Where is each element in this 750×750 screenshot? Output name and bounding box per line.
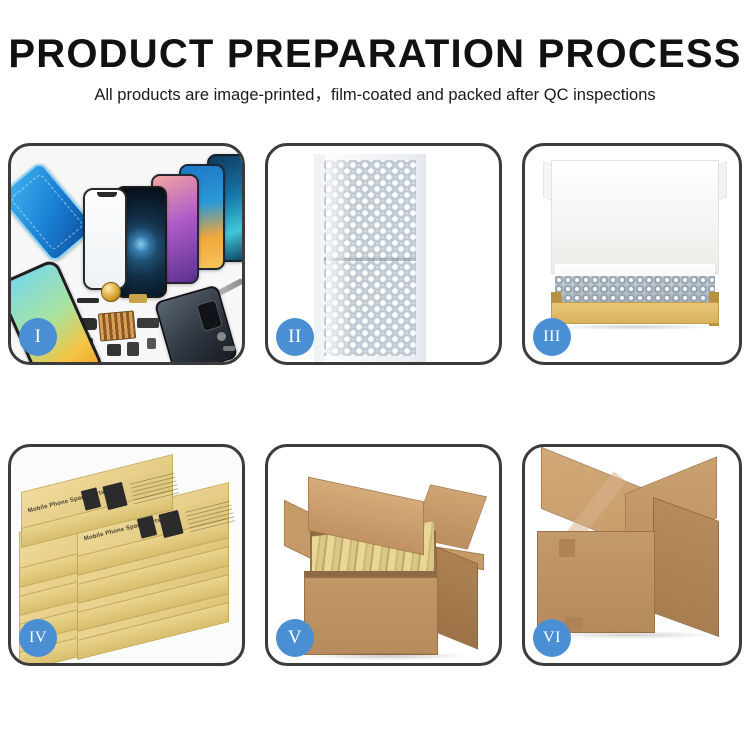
carton-tab-upper-icon — [559, 539, 575, 557]
yellow-box-front-icon — [551, 302, 719, 324]
box-shadow — [555, 324, 715, 330]
step-badge-6: VI — [533, 619, 571, 657]
page-subtitle: All products are image-printed，film-coat… — [0, 82, 750, 108]
charging-port-icon — [127, 342, 139, 356]
connector-gold-icon — [129, 294, 147, 303]
step-badge-2: II — [276, 318, 314, 356]
white-box-lid-icon — [551, 160, 719, 274]
small-chip-icon — [147, 338, 156, 349]
header: PRODUCT PREPARATION PROCESS All products… — [0, 0, 750, 108]
step-panel-3[interactable]: III — [522, 143, 742, 365]
chip-board-icon — [98, 310, 136, 341]
step-badge-5: V — [276, 619, 314, 657]
steps-grid: I II III — [8, 143, 742, 688]
step-badge-3: III — [533, 318, 571, 356]
sealed-carton-front-icon — [537, 531, 655, 633]
screw-icon — [223, 346, 235, 351]
plastic-highlight-icon — [326, 146, 352, 362]
flex-cable-icon — [77, 298, 99, 303]
product-preparation-infographic: PRODUCT PREPARATION PROCESS All products… — [0, 0, 750, 750]
step-badge-1: I — [19, 318, 57, 356]
screen-protector-icon — [83, 188, 127, 290]
step-panel-4[interactable]: Mobile Phone Spare Parts Mobile Phone Sp… — [8, 444, 245, 666]
carton-shadow — [308, 652, 468, 660]
step-badge-4: IV — [19, 619, 57, 657]
step-panel-5[interactable]: V — [265, 444, 502, 666]
step-panel-6[interactable]: VI — [522, 444, 742, 666]
step-panel-1[interactable]: I — [8, 143, 245, 365]
carton-front-panel-icon — [304, 577, 438, 655]
page-title: PRODUCT PREPARATION PROCESS — [0, 30, 750, 78]
speaker-module-icon — [101, 282, 121, 302]
sealed-carton-side-icon — [653, 497, 719, 637]
battery-connector-icon — [137, 318, 159, 328]
step-panel-2[interactable]: II — [265, 143, 502, 365]
vibrator-icon — [107, 344, 121, 356]
button-icon — [217, 332, 226, 341]
carton-side-panel-icon — [436, 547, 478, 650]
bubble-wrapped-contents-icon — [555, 276, 715, 304]
